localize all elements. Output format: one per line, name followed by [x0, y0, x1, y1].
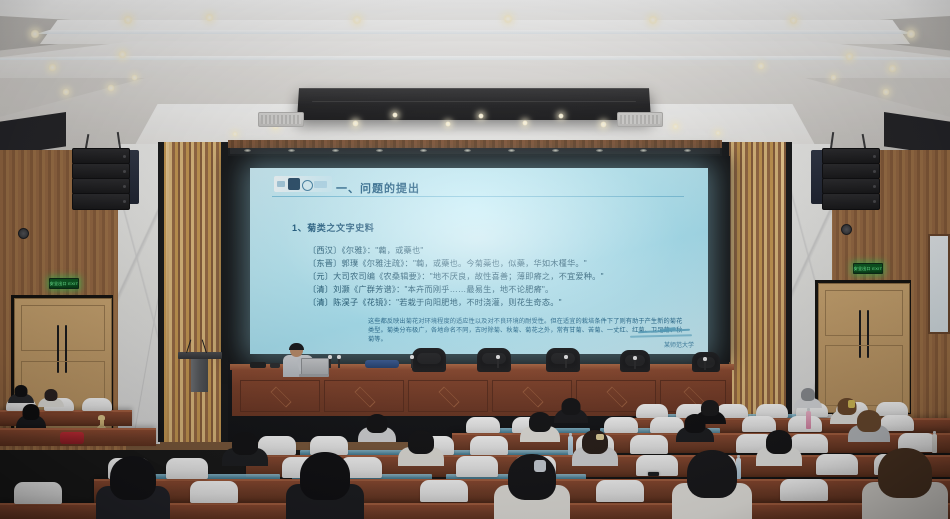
audience-person — [848, 410, 890, 440]
audience-seat — [82, 398, 112, 411]
slide-quote: 〔东晋〕郭璞《尔雅注疏》："蘜，或藥也。今菊蘂也，似藥，华如木槿华。" — [308, 257, 587, 269]
stage-chair — [412, 348, 446, 372]
desk-panel — [240, 380, 320, 412]
hair-clip — [848, 400, 855, 408]
audience-person — [286, 452, 364, 519]
desk-microphone — [497, 357, 499, 368]
screen-light — [376, 149, 383, 152]
stage-chair — [546, 348, 580, 372]
line-array-speaker-left — [72, 148, 142, 210]
projection-screen-frame: 一、问题的提出 1、菊类之文字史料 〔西汉〕《尔雅》："蘜，或藥也" 〔东晋〕郭… — [228, 156, 730, 362]
air-vent — [258, 112, 304, 127]
person-hair — [45, 389, 58, 401]
audience-seat — [166, 458, 208, 479]
person-hair — [687, 450, 737, 498]
audience-seat — [816, 454, 858, 475]
audience-person — [222, 432, 268, 464]
speaker-module — [72, 163, 130, 179]
audience-seat — [456, 456, 498, 477]
person-hair — [110, 456, 156, 500]
downlight — [503, 14, 513, 24]
stage-chair — [692, 352, 720, 372]
audience-seat — [780, 479, 828, 501]
audience-person — [398, 430, 444, 464]
exit-sign-right: 安全出口 EXIT — [853, 263, 883, 274]
screen-light — [508, 149, 515, 152]
audience-person — [862, 448, 948, 519]
cove-light-tier-2 — [0, 56, 950, 60]
downlight — [352, 120, 359, 127]
desk-equipment — [270, 363, 280, 368]
person-hair — [529, 412, 551, 432]
person-hair — [408, 430, 434, 454]
stage-chair — [477, 348, 511, 372]
screen-light — [332, 149, 339, 152]
door-handle[interactable] — [65, 325, 67, 373]
gold-slat-wall-right — [726, 142, 786, 442]
downlight — [131, 74, 138, 81]
desk-microphone — [634, 358, 636, 369]
screen-light — [244, 149, 251, 152]
laptop-screen — [301, 358, 329, 375]
window-right — [928, 234, 950, 334]
laptop — [299, 358, 329, 377]
audience-person — [794, 388, 822, 406]
projection-screen: 一、问题的提出 1、菊类之文字史料 〔西汉〕《尔雅》："蘜，或藥也" 〔东晋〕郭… — [250, 168, 708, 354]
person-hair — [232, 432, 258, 455]
downlight — [118, 50, 127, 59]
slide-watermark-graphic — [630, 328, 696, 340]
red-bag — [60, 432, 84, 444]
desk-microphone — [338, 357, 340, 368]
person-hair — [508, 454, 556, 500]
speaker-module — [822, 163, 880, 179]
screen-light — [552, 149, 559, 152]
wall-speaker-right — [841, 224, 852, 235]
audience-person — [38, 389, 64, 405]
audience-seat — [466, 417, 500, 433]
downlight — [715, 130, 721, 136]
slide-seal-graphic — [274, 176, 332, 192]
smartphone[interactable] — [648, 472, 659, 476]
downlight — [205, 13, 214, 22]
slide-quote: 〔清〕刘灏《广群芳谱》："本卉而刚乎……最易生，地不论肥瘠"。 — [308, 283, 553, 295]
downlight — [392, 112, 398, 118]
slide-title: 一、问题的提出 — [336, 180, 420, 196]
audience-person — [358, 414, 396, 440]
speaker-module — [822, 148, 880, 164]
desk-microphone — [329, 357, 331, 368]
water-bottle — [806, 411, 811, 429]
podium-top — [178, 352, 222, 359]
screen-light — [420, 149, 427, 152]
downlight — [352, 15, 362, 25]
hair-clip — [596, 434, 604, 440]
downlight — [522, 120, 528, 126]
audience-seat — [470, 436, 508, 455]
slat-glow-left — [166, 142, 169, 442]
downlight — [888, 64, 897, 73]
downlight — [478, 113, 484, 119]
person-hair — [801, 388, 815, 401]
vase-neck — [100, 419, 104, 427]
vase-top — [98, 415, 105, 420]
line-array-speaker-right — [808, 148, 878, 210]
exit-sign-label: 安全出口 EXIT — [50, 281, 79, 287]
speaker-module — [822, 193, 880, 210]
person-hair — [300, 452, 350, 500]
screen-light — [640, 149, 647, 152]
downlight — [62, 88, 70, 96]
door-right[interactable] — [815, 280, 911, 414]
downlight — [558, 113, 564, 119]
person-hair — [15, 385, 28, 397]
downlight — [445, 121, 451, 127]
speaker-module — [822, 178, 880, 194]
audience-person — [520, 412, 560, 440]
person-hair — [23, 404, 40, 420]
person-hair — [766, 430, 792, 454]
podium — [178, 352, 222, 392]
audience-seat — [630, 435, 668, 454]
slide-section-heading: 1、菊类之文字史料 — [292, 221, 374, 234]
wall-speaker-left — [18, 228, 29, 239]
screen-light — [288, 149, 295, 152]
door-handle[interactable] — [867, 310, 869, 358]
downlight — [232, 131, 238, 137]
screen-light — [684, 149, 691, 152]
downlight — [757, 62, 765, 70]
slide-quote: 〔西汉〕《尔雅》："蘜，或藥也" — [308, 244, 423, 256]
exit-sign-label: 安全出口 EXIT — [854, 266, 883, 272]
downlight — [123, 15, 133, 25]
audience-seat — [636, 404, 668, 418]
slat-gap-right — [785, 142, 792, 442]
downlight — [600, 121, 607, 128]
slide-quote: 〔清〕陈淏子《花镜》："若栽于向阳肥地，不时浇灌，则花生奇态。" — [308, 296, 562, 308]
audience-person — [676, 414, 714, 440]
door-handle[interactable] — [859, 310, 861, 358]
desk-bag — [365, 360, 399, 368]
downlight — [845, 52, 854, 61]
lecture-hall-scene: 一、问题的提出 1、菊类之文字史料 〔西汉〕《尔雅》："蘜，或藥也" 〔东晋〕郭… — [0, 0, 950, 519]
slide-quote: 〔元〕大司农司编《农桑辑要》："地不厌良，故性喜善；薄即瘠之，不宜爱种。" — [308, 270, 604, 282]
person-hair — [878, 448, 932, 498]
ceiling-projector-beam — [297, 88, 651, 120]
door-handle[interactable] — [57, 325, 59, 373]
air-vent — [617, 112, 663, 127]
audience-person — [96, 456, 170, 519]
desk-microphone — [411, 357, 413, 368]
exit-sign-left: 安全出口 EXIT — [49, 278, 79, 289]
cove-light-outer — [36, 30, 914, 34]
screen-light — [596, 149, 603, 152]
audience-seat — [14, 482, 62, 504]
desk-panel — [408, 380, 488, 412]
laptop-base — [299, 374, 329, 377]
podium-column — [191, 359, 208, 392]
downlight — [48, 63, 57, 72]
audience-person — [756, 430, 802, 464]
audience-person — [572, 430, 618, 464]
person-hair — [367, 414, 388, 433]
valance-above-screen — [228, 140, 722, 148]
audience-seat — [596, 480, 644, 502]
downlight — [882, 88, 890, 96]
audience-person — [8, 385, 34, 401]
person-hair — [857, 410, 881, 432]
slat-glow-right — [781, 142, 784, 442]
desk-panel — [324, 380, 404, 412]
screen-light — [464, 149, 471, 152]
speaker-module — [72, 148, 130, 164]
audience-seat — [190, 481, 238, 503]
downlight — [830, 74, 837, 81]
downlight — [107, 84, 115, 92]
presenter-hair — [289, 343, 304, 350]
audience-person — [16, 404, 46, 426]
desk-microphone — [565, 357, 567, 368]
door-leaf-right[interactable] — [818, 283, 910, 413]
speaker-module — [72, 178, 130, 194]
person-hair — [582, 430, 608, 454]
hair-clip — [534, 460, 546, 472]
downlight — [789, 16, 798, 25]
downlight — [30, 29, 40, 39]
audience-person — [494, 454, 570, 519]
desk-microphone — [704, 359, 706, 370]
desk-equipment — [250, 362, 266, 368]
downlight — [906, 29, 916, 39]
slide-watermark-text: 某师范大学 — [664, 340, 694, 349]
audience-person — [672, 450, 752, 519]
audience-seat — [420, 480, 468, 502]
person-hair — [685, 414, 706, 433]
downlight — [648, 15, 658, 25]
gold-slat-wall-left — [164, 142, 224, 442]
speaker-module — [72, 193, 130, 210]
downlight — [672, 123, 679, 130]
person-hair — [562, 398, 581, 415]
ceiling — [0, 0, 950, 160]
slide-title-rule — [272, 196, 684, 197]
